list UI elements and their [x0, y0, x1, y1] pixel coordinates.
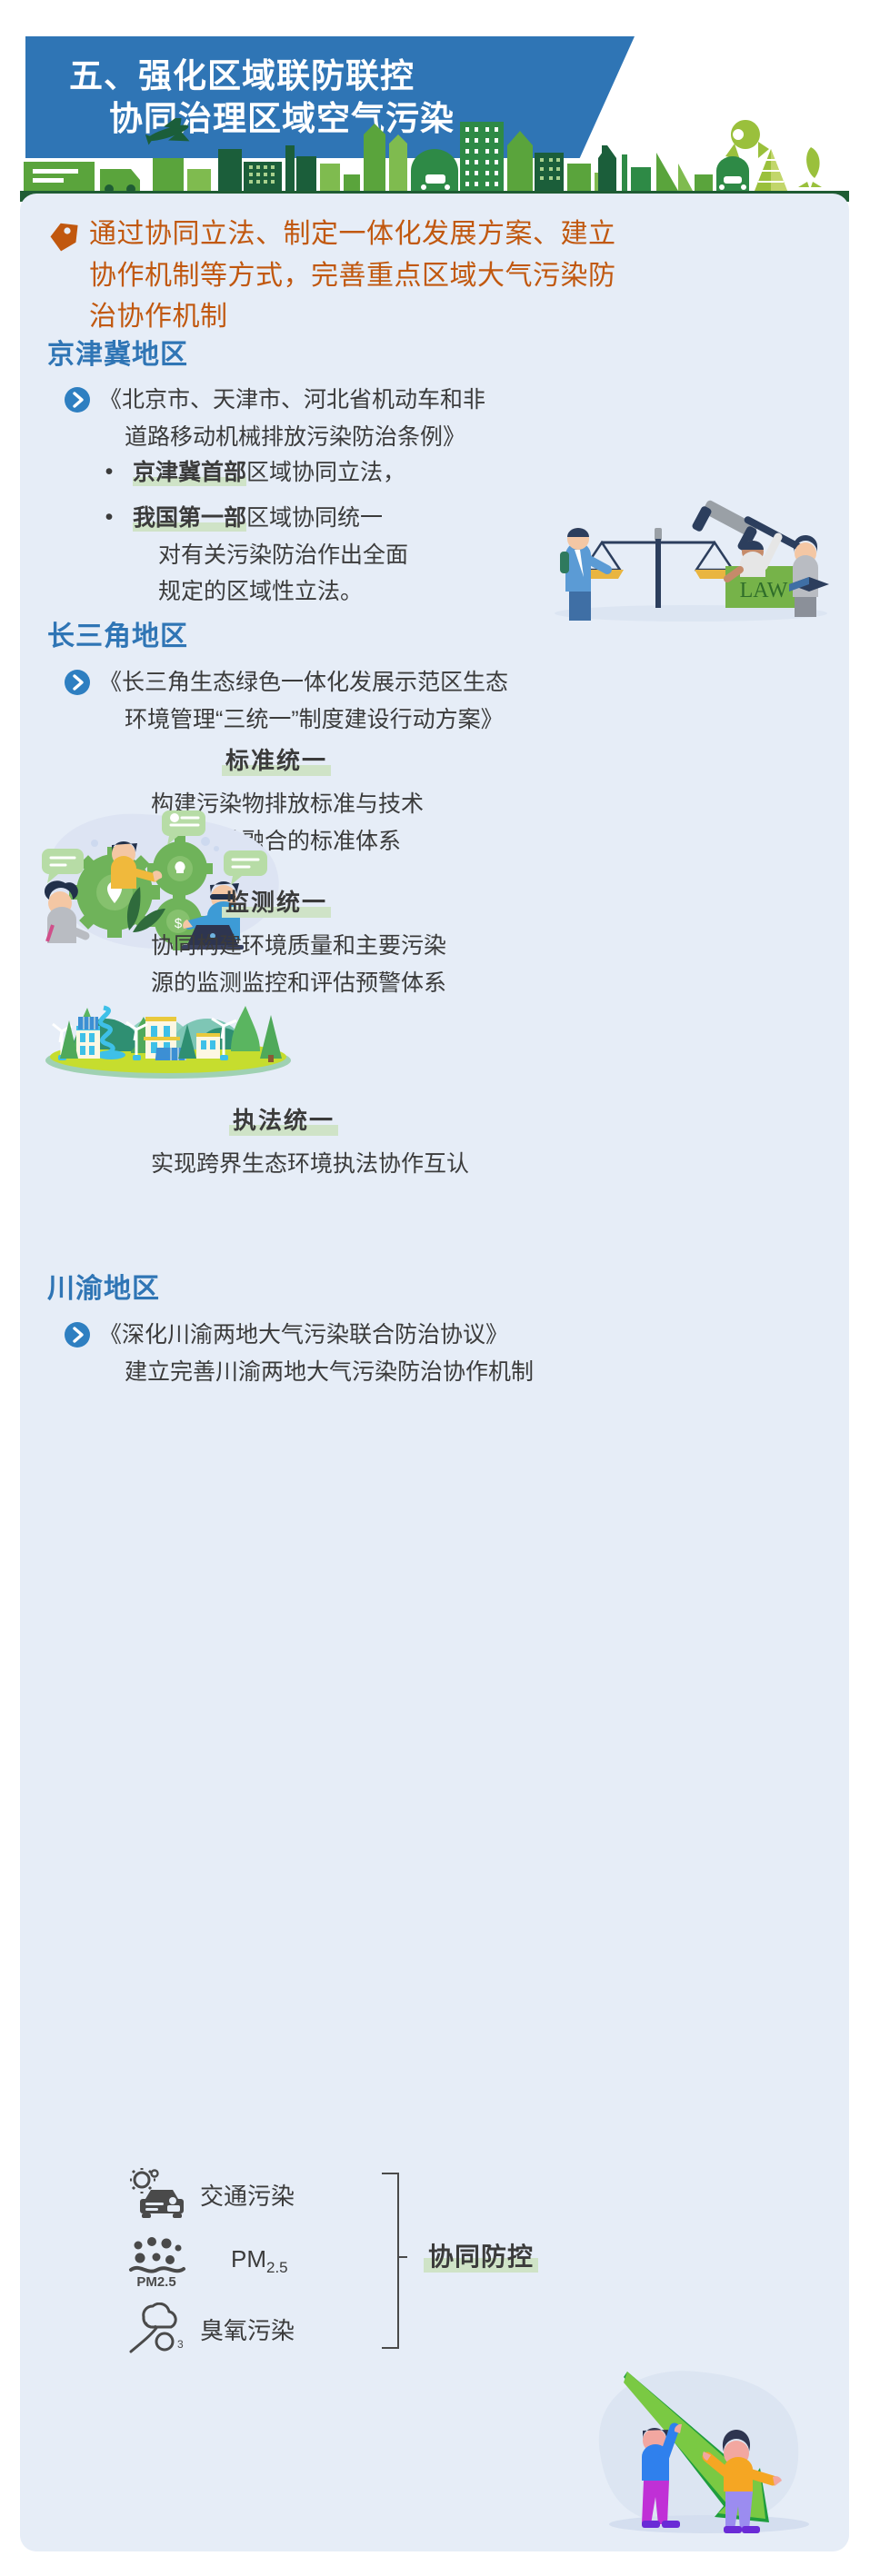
green-city-skyline-illustration: [0, 118, 880, 202]
subsection-title-enforcement: 执法统一: [229, 1102, 338, 1136]
region-heading-chuanyu: 川渝地区: [47, 1266, 160, 1306]
list-item: 交通污染: [127, 2161, 295, 2228]
doc-title-line-2: 道路移动机械排放污染防治条例》: [99, 419, 485, 456]
tag-icon: [47, 219, 84, 255]
pollution-label: 交通污染: [200, 2178, 295, 2212]
synergy-label: 协同防控: [424, 2237, 538, 2273]
ozone-icon: 3: [127, 2302, 187, 2355]
svg-text:3: 3: [177, 2338, 184, 2351]
region-heading-jingjinji: 京津冀地区: [47, 332, 188, 372]
highlight-text: 我国第一部: [133, 505, 246, 532]
subsection-body-monitoring-line-1: 协同构建环境质量和主要污染: [151, 928, 446, 965]
chevron-right-circle-icon: [64, 386, 91, 413]
doc-title-line-2: 建立完善川渝两地大气污染防治协作机制: [99, 1354, 534, 1391]
bullet-dot-icon: •: [98, 454, 120, 490]
brace-icon: [380, 2170, 415, 2352]
bullet-rest-text: 区域协同统一: [246, 505, 383, 531]
doc-title-line-1: 《深化川渝两地大气污染联合防治协议》: [99, 1317, 534, 1354]
doc-item-chuanyu: 《深化川渝两地大气污染联合防治协议》 建立完善川渝两地大气污染防治协作机制: [64, 1317, 791, 1390]
pollution-source-list: 交通污染 PM2.5 PM2.5: [127, 2161, 295, 2362]
highlight-text: 京津冀首部: [133, 460, 246, 486]
doc-item-yangtze-delta: 《长三角生态绿色一体化发展示范区生态 环境管理“三统一”制度建设行动方案》: [64, 664, 755, 738]
subsection-body-enforcement-line-1: 实现跨界生态环境执法协作互认: [151, 1146, 469, 1183]
intro-line-2: 协作机制等方式，完善重点区域大气污染防: [89, 255, 616, 297]
subsection-title-standard: 标准统一: [222, 742, 331, 776]
svg-text:LAW: LAW: [740, 579, 788, 602]
doc-title-line-1: 《长三角生态绿色一体化发展示范区生态: [99, 664, 508, 701]
svg-text:PM2.5: PM2.5: [136, 2274, 175, 2288]
bullet-rest-text: 区域协同立法，: [246, 460, 405, 485]
list-item: PM2.5 PM2.5: [127, 2228, 295, 2295]
intro-block: 通过协同立法、制定一体化发展方案、建立 协作机制等方式，完善重点区域大气污染防 …: [47, 214, 829, 338]
chevron-right-circle-icon: [64, 1321, 91, 1348]
region-heading-yangtze-delta: 长三角地区: [47, 613, 188, 653]
bullet-dot-icon: •: [98, 500, 120, 535]
traffic-pollution-icon: [127, 2168, 187, 2221]
header-title-line-1: 五、强化区域联防联控: [25, 55, 635, 97]
doc-item-jingjinji: 《北京市、天津市、河北省机动车和非 道路移动机械排放污染防治条例》: [64, 382, 700, 455]
bullet-rest-text-3: 规定的区域性立法。: [133, 573, 408, 611]
subsection-title-monitoring: 监测统一: [222, 884, 331, 918]
pm25-icon: PM2.5: [127, 2235, 187, 2288]
green-arrow-teamwork-illustration: [591, 2344, 855, 2553]
doc-title-line-2: 环境管理“三统一”制度建设行动方案》: [99, 701, 508, 739]
doc-title-line-1: 《北京市、天津市、河北省机动车和非: [99, 382, 485, 419]
intro-line-1: 通过协同立法、制定一体化发展方案、建立: [89, 214, 616, 255]
pollution-label: 臭氧污染: [200, 2312, 295, 2346]
list-item: 3 臭氧污染: [127, 2295, 295, 2362]
bullet-rest-text-2: 对有关污染防治作出全面: [133, 537, 408, 574]
chevron-right-circle-icon: [64, 669, 91, 696]
eco-green-hills-illustration: [36, 980, 300, 1080]
pollution-label-pm25: PM2.5: [231, 2245, 288, 2277]
law-scales-gavel-illustration: LAW: [545, 486, 836, 622]
